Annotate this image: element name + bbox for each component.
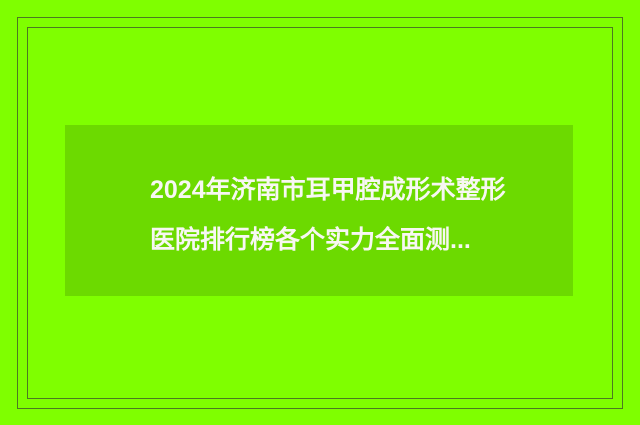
caption-overlay-panel: 2024年济南市耳甲腔成形术整形医院排行榜各个实力全面测... (65, 125, 573, 296)
image-card: 2024年济南市耳甲腔成形术整形医院排行榜各个实力全面测... (0, 0, 640, 425)
caption-title: 2024年济南市耳甲腔成形术整形医院排行榜各个实力全面测... (150, 165, 520, 265)
